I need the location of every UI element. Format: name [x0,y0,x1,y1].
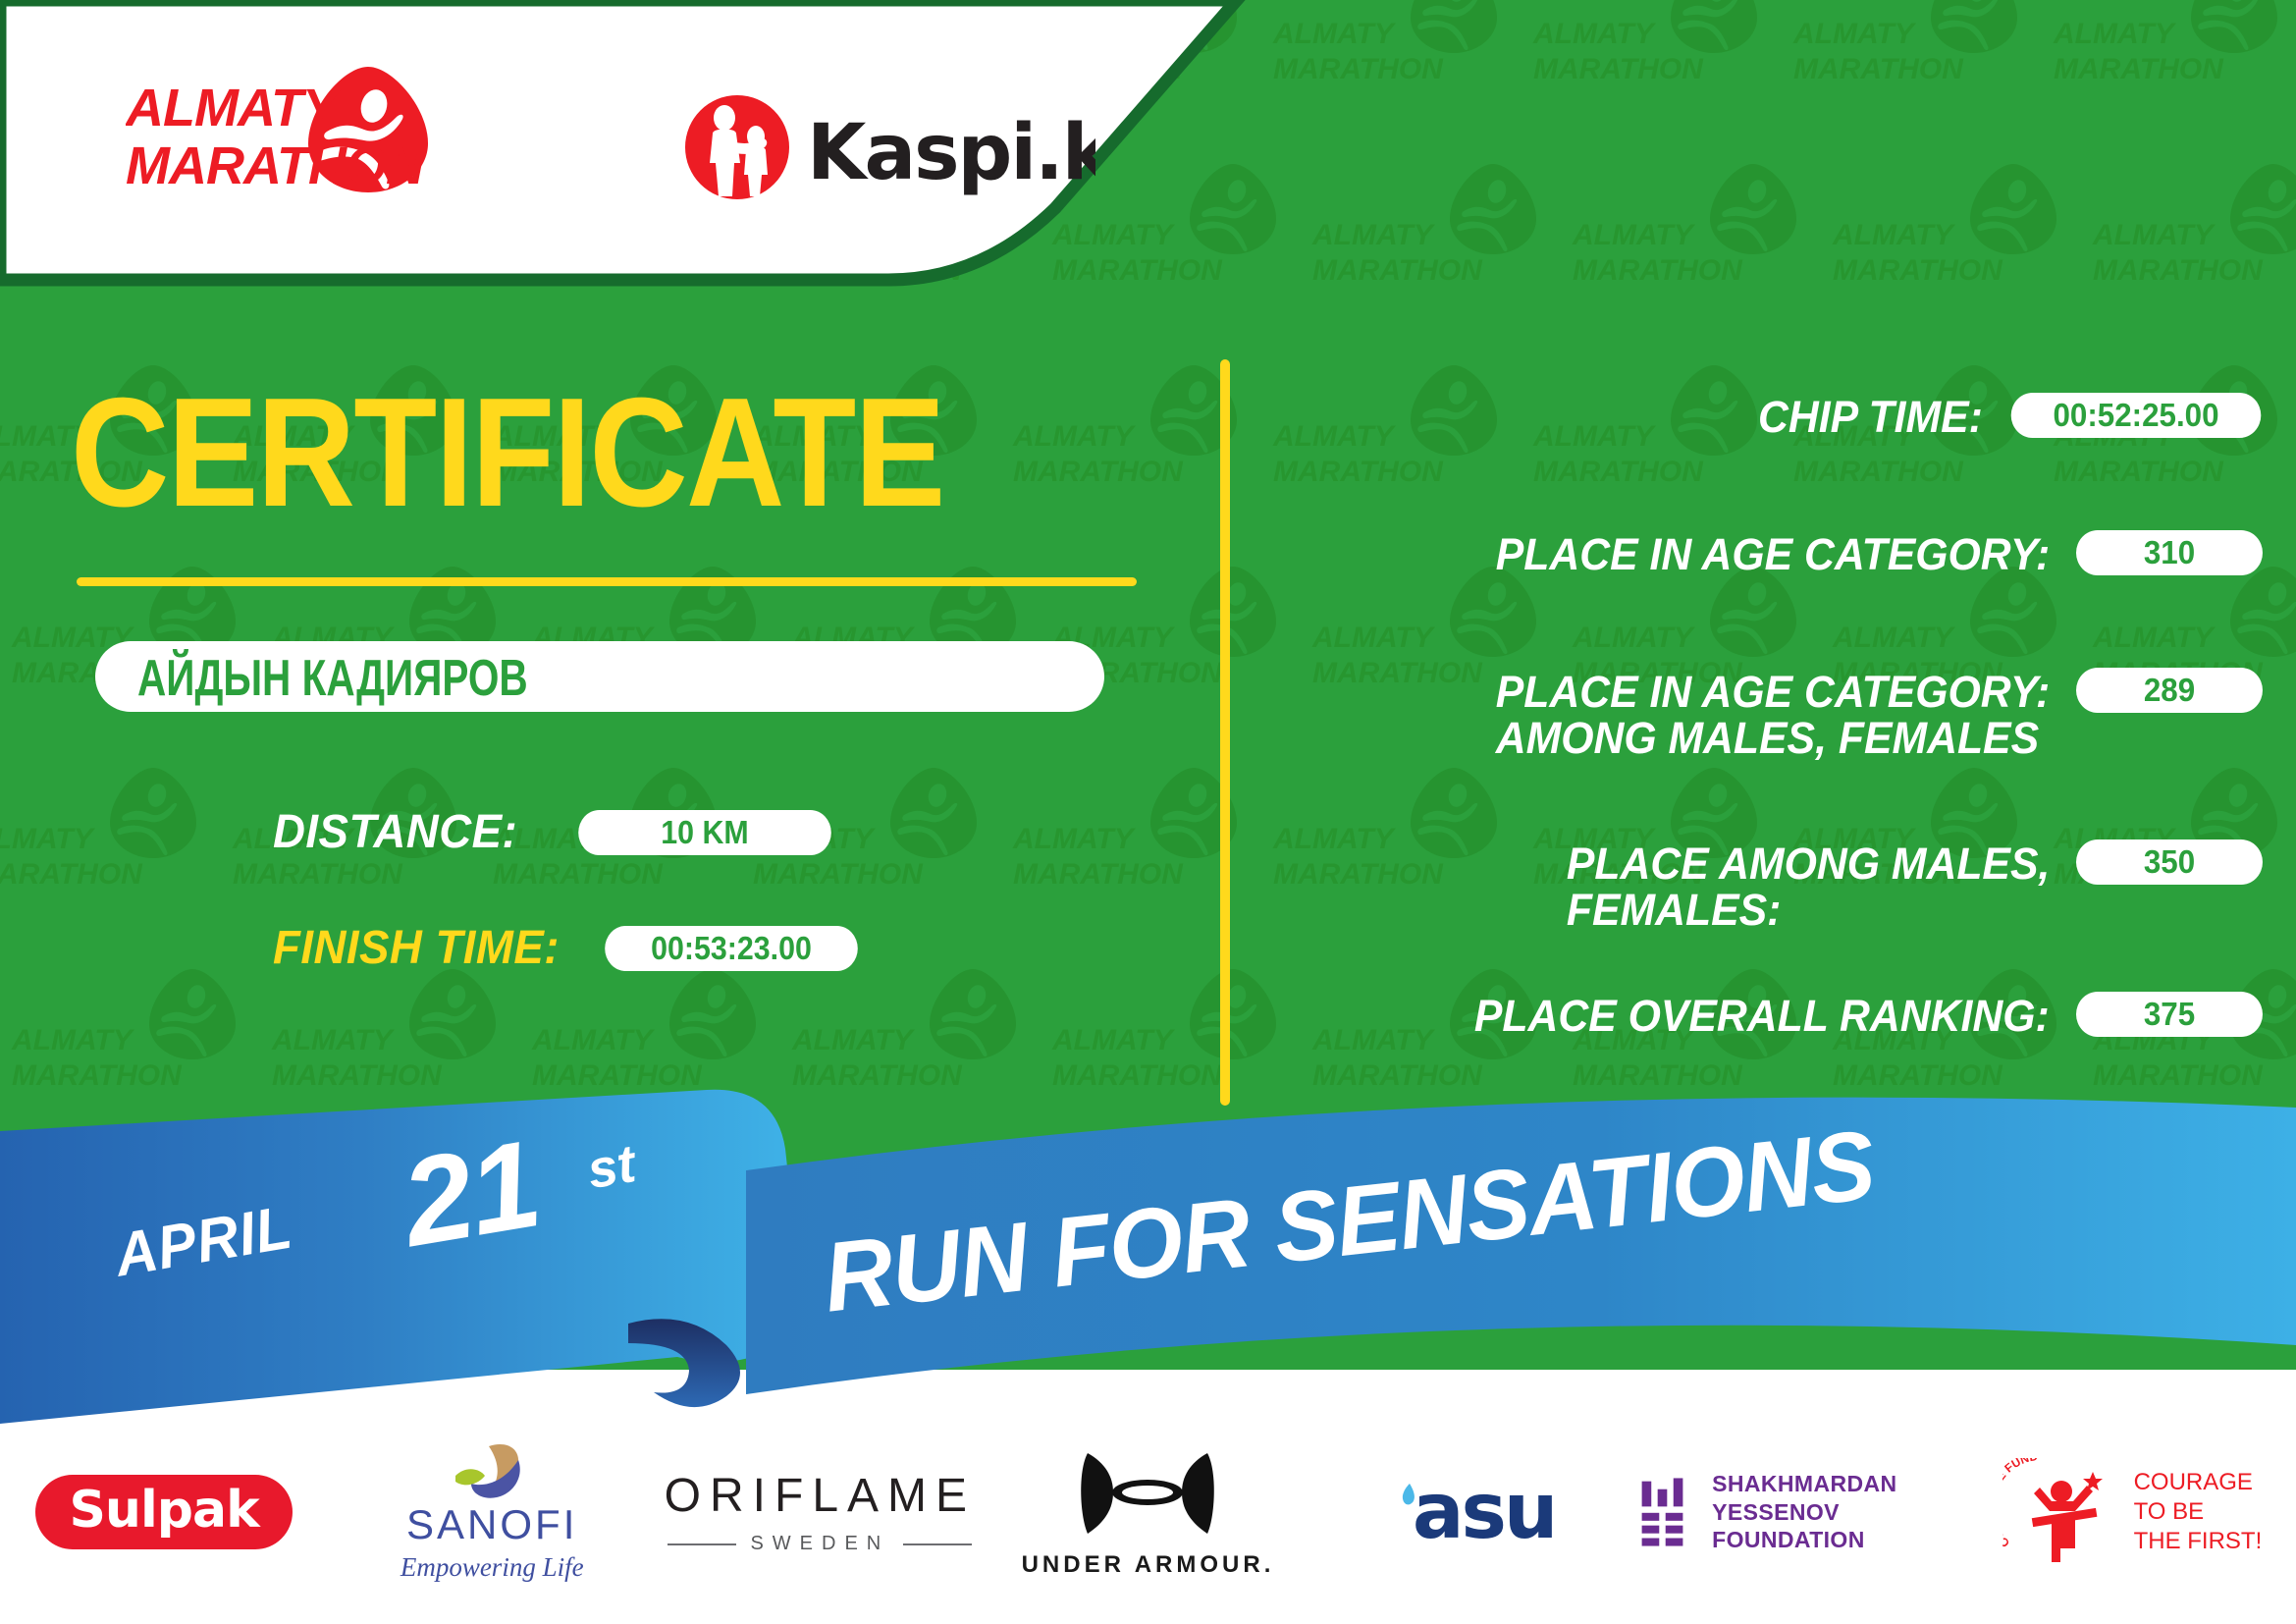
page-title: CERTIFICATE [71,375,944,530]
yessenov-label-line2: FOUNDATION [1712,1526,1968,1554]
title-underline-rule [77,577,1137,586]
almaty-logo-line1: ALMATY [126,79,343,137]
result-row-place-overall-ranking: PLACE OVERALL RANKING: 375 [1276,992,2268,1040]
kaspi-logo: Kaspi.kz [683,90,1095,208]
result-row-place-age-category-among: PLACE IN AGE CATEGORY: AMONG MALES, FEMA… [1276,668,2268,762]
result-value: 289 [2076,668,2263,713]
result-label: PLACE OVERALL RANKING: [1474,992,2050,1040]
result-label: PLACE IN AGE CATEGORY: [1495,530,2050,578]
corporate-fund-line3: THE FIRST! [2134,1527,2263,1556]
ribbon-day: 21 [393,1112,548,1274]
ribbon-day-suffix: st [583,1133,640,1201]
result-value: 375 [2076,992,2263,1037]
oriflame-rule-right [903,1543,972,1545]
result-row-place-among-males-females: PLACE AMONG MALES, FEMALES: 350 [1276,839,2268,934]
almaty-marathon-logo: ALMATY MARATHON [126,61,450,198]
result-row-place-age-category: PLACE IN AGE CATEGORY: 310 [1276,530,2268,578]
result-value: 00:52:25.00 [2011,393,2262,438]
sanofi-logo-label: SANOFI [406,1501,577,1548]
result-label: PLACE IN AGE CATEGORY: AMONG MALES, FEMA… [1495,668,2050,762]
participant-name: АЙДЫН КАДИЯРОВ [137,649,528,708]
almaty-logo-line2: MARATHON [126,136,425,195]
under-armour-logo-label: UNDER ARMOUR. [1022,1551,1275,1579]
sanofi-tagline: Empowering Life [400,1552,584,1583]
corporate-fund-line2: TO BE [2134,1497,2263,1527]
result-label: CHIP TIME: [1758,393,1983,441]
result-label: PLACE AMONG MALES, FEMALES: [1567,839,2050,934]
result-value: 350 [2076,839,2263,885]
oriflame-tagline: SWEDEN [750,1533,889,1555]
certificate-page: ALMATYMARATHONALMATYMARATHONALMATYMARATH… [0,0,2296,1624]
oriflame-rule-left [667,1543,736,1545]
result-row-chip-time: CHIP TIME: 00:52:25.00 [1276,393,2268,441]
vertical-divider [1220,359,1230,1106]
kaspi-people-icon [685,95,789,199]
kaspi-wordmark: Kaspi.kz [807,109,1095,197]
result-value: 310 [2076,530,2263,575]
